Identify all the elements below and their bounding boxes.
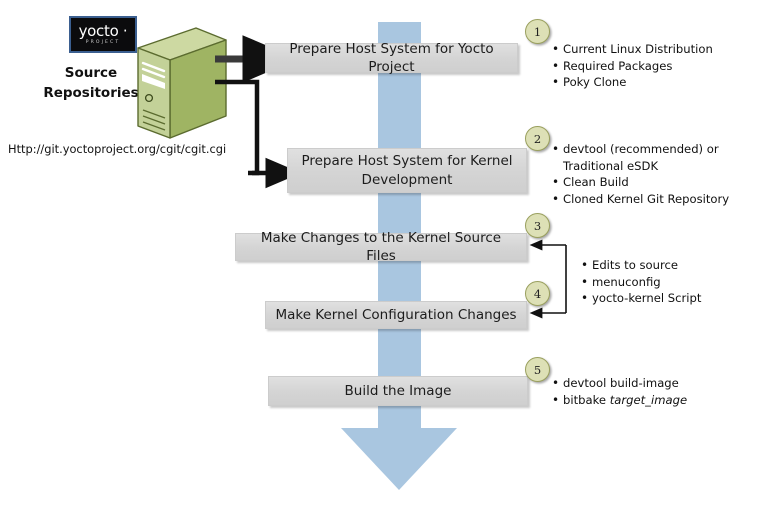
- process-box-step-5[interactable]: Build the Image: [268, 376, 528, 406]
- list-item: Poky Clone: [551, 74, 766, 91]
- bullets-step-1: Current Linux Distribution Required Pack…: [551, 41, 766, 91]
- step-badge-5: 5: [525, 357, 550, 382]
- process-box-step-2[interactable]: Prepare Host System for Kernel Developme…: [287, 148, 527, 193]
- bullets-steps-3-4: Edits to source menuconfig yocto-kernel …: [580, 257, 760, 307]
- list-item: devtool (recommended) or Traditional eSD…: [551, 141, 763, 174]
- main-flow-arrow-shaft: [378, 22, 421, 433]
- main-flow-arrow-head: [341, 428, 457, 490]
- source-repositories-label: Source Repositories: [36, 63, 146, 103]
- process-box-step-4[interactable]: Make Kernel Configuration Changes: [265, 301, 527, 329]
- list-item: bitbake target_image: [551, 392, 751, 409]
- diagram-canvas: yocto · PROJECT Source Repositories Http…: [0, 0, 769, 517]
- bitbake-target-value: target_image: [610, 393, 687, 407]
- list-item: Current Linux Distribution: [551, 41, 766, 58]
- step-badge-4: 4: [525, 281, 550, 306]
- bullets-step-5: devtool build-image bitbake target_image: [551, 375, 751, 408]
- step-badge-3: 3: [525, 213, 550, 238]
- bullets-step-2: devtool (recommended) or Traditional eSD…: [551, 141, 763, 207]
- step-badge-1: 1: [525, 19, 550, 44]
- list-item: Required Packages: [551, 58, 766, 75]
- source-repositories-url: Http://git.yoctoproject.org/cgit/cgit.cg…: [8, 142, 226, 156]
- list-item: Cloned Kernel Git Repository: [551, 191, 763, 208]
- process-box-step-3[interactable]: Make Changes to the Kernel Source Files: [235, 233, 527, 261]
- list-item: devtool build-image: [551, 375, 751, 392]
- yocto-logo-subtext: PROJECT: [86, 40, 121, 45]
- yocto-logo-wordmark: yocto ·: [79, 24, 128, 38]
- list-item: menuconfig: [580, 274, 760, 291]
- list-item: Edits to source: [580, 257, 760, 274]
- bitbake-command: bitbake: [563, 393, 610, 407]
- list-item: yocto-kernel Script: [580, 290, 760, 307]
- yocto-project-logo: yocto · PROJECT: [69, 16, 137, 53]
- server-tower-icon: [134, 26, 230, 140]
- process-box-step-1[interactable]: Prepare Host System for Yocto Project: [265, 43, 518, 73]
- step-badge-2: 2: [525, 126, 550, 151]
- list-item: Clean Build: [551, 174, 763, 191]
